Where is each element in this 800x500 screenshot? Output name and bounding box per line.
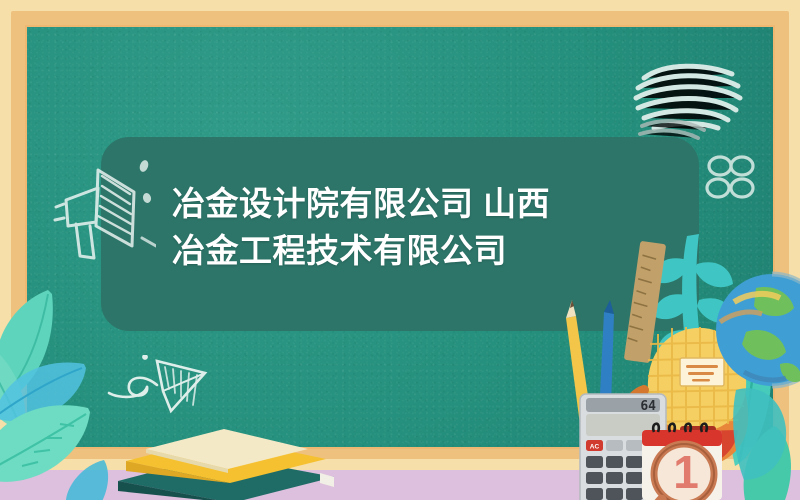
- headline-line-2: 冶金工程技术有限公司: [172, 232, 507, 269]
- calculator-display: 64: [640, 399, 656, 414]
- chalk-scribble-doodle: [628, 52, 748, 140]
- page-title: 冶金设计院有限公司 山西冶金工程技术有限公司: [172, 180, 692, 274]
- calculator-group: 64 AC: [578, 388, 728, 500]
- flower-doodle: [700, 150, 762, 208]
- globe: [716, 268, 800, 396]
- calculator-ac-key: AC: [590, 444, 600, 451]
- banner-image: 64 AC: [0, 0, 800, 500]
- megaphone-doodle: [46, 160, 156, 280]
- headline-line-1: 冶金设计院有限公司 山西: [172, 185, 550, 222]
- book-stack: [112, 415, 337, 500]
